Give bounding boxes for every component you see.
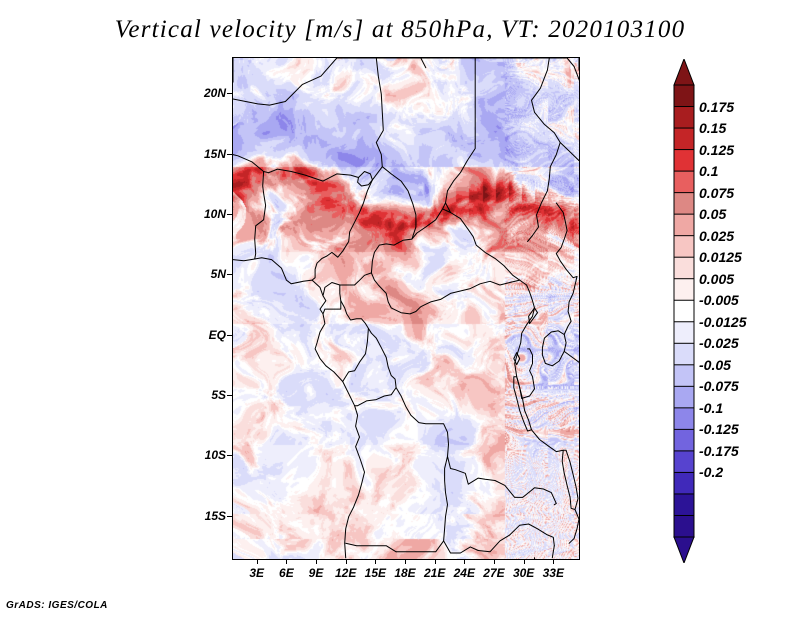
colorbar-tick-label: -0.1 xyxy=(699,400,723,416)
colorbar-tick-label: -0.125 xyxy=(699,421,739,437)
y-axis-tick-mark xyxy=(227,154,232,155)
y-axis-tick-label: EQ xyxy=(174,328,226,342)
colorbar-swatch xyxy=(674,515,694,537)
colorbar-tick-label: -0.05 xyxy=(699,357,731,373)
colorbar-tick-label: -0.0125 xyxy=(699,314,746,330)
y-axis-tick-label: 15N xyxy=(174,147,226,161)
colorbar-tick-label: 0.15 xyxy=(699,120,726,136)
colorbar-swatch xyxy=(674,429,694,451)
x-axis-tick-label: 33E xyxy=(543,566,564,580)
colorbar-tick-label: -0.175 xyxy=(699,443,739,459)
colorbar-top-arrow xyxy=(674,59,694,85)
colorbar-tick-label: 0.125 xyxy=(699,142,734,158)
x-axis-tick-mark xyxy=(346,559,347,564)
colorbar-swatch xyxy=(674,257,694,279)
colorbar-swatch xyxy=(674,193,694,215)
colorbar-swatch xyxy=(674,343,694,365)
y-axis-tick-label: 10S xyxy=(174,448,226,462)
colorbar-swatch xyxy=(674,322,694,344)
x-axis-tick-mark xyxy=(316,559,317,564)
x-axis-tick-label: 3E xyxy=(249,566,264,580)
colorbar-swatch xyxy=(674,300,694,322)
y-axis-tick-label: 5S xyxy=(174,388,226,402)
x-axis-tick-label: 6E xyxy=(279,566,294,580)
x-axis-tick-mark xyxy=(435,559,436,564)
colorbar-swatches xyxy=(673,59,695,563)
colorbar-swatch xyxy=(674,85,694,107)
colorbar-swatch xyxy=(674,451,694,473)
y-axis-tick-label: 10N xyxy=(174,207,226,221)
colorbar-swatch xyxy=(674,494,694,516)
x-axis-tick-mark xyxy=(524,559,525,564)
colorbar-swatch xyxy=(674,408,694,430)
colorbar-swatch xyxy=(674,171,694,193)
map-plot-area xyxy=(232,57,580,560)
y-axis-tick-label: 5N xyxy=(174,267,226,281)
x-axis-tick-mark xyxy=(257,559,258,564)
colorbar-tick-label: -0.2 xyxy=(699,464,723,480)
y-axis-tick-label: 20N xyxy=(174,86,226,100)
x-axis-tick-label: 27E xyxy=(483,566,504,580)
x-axis-tick-mark xyxy=(375,559,376,564)
x-axis-tick-label: 18E xyxy=(394,566,415,580)
y-axis-tick-mark xyxy=(227,93,232,94)
colorbar-swatch xyxy=(674,279,694,301)
y-axis-tick-mark xyxy=(227,274,232,275)
page-title: Vertical velocity [m/s] at 850hPa, VT: 2… xyxy=(0,16,800,44)
x-axis-tick-label: 12E xyxy=(335,566,356,580)
colorbar-tick-label: -0.075 xyxy=(699,378,739,394)
colorbar-swatch xyxy=(674,214,694,236)
colorbar-tick-label: 0.0125 xyxy=(699,249,742,265)
colorbar-tick-label: 0.175 xyxy=(699,99,734,115)
colorbar-swatch xyxy=(674,472,694,494)
colorbar-swatch xyxy=(674,150,694,172)
colorbar-swatch xyxy=(674,107,694,129)
x-axis-tick-label: 21E xyxy=(424,566,445,580)
x-axis-tick-label: 24E xyxy=(454,566,475,580)
colorbar-tick-label: -0.005 xyxy=(699,292,739,308)
y-axis-tick-label: 15S xyxy=(174,509,226,523)
colorbar-tick-label: 0.05 xyxy=(699,206,726,222)
x-axis-tick-label: 9E xyxy=(309,566,324,580)
colorbar-swatch xyxy=(674,236,694,258)
colorbar-swatch xyxy=(674,386,694,408)
colorbar-bottom-arrow xyxy=(674,537,694,563)
vertical-velocity-heatmap xyxy=(233,58,579,559)
attribution-footer: GrADS: IGES/COLA xyxy=(6,600,108,611)
x-axis-tick-label: 30E xyxy=(513,566,534,580)
x-axis-tick-mark xyxy=(405,559,406,564)
grads-plot-page: Vertical velocity [m/s] at 850hPa, VT: 2… xyxy=(0,0,800,618)
colorbar-tick-label: 0.075 xyxy=(699,185,734,201)
y-axis-tick-mark xyxy=(227,395,232,396)
y-axis-tick-mark xyxy=(227,516,232,517)
x-axis-tick-label: 15E xyxy=(365,566,386,580)
colorbar-tick-label: 0.1 xyxy=(699,163,718,179)
colorbar-tick-label: 0.025 xyxy=(699,228,734,244)
y-axis-tick-mark xyxy=(227,214,232,215)
x-axis-tick-mark xyxy=(553,559,554,564)
colorbar-tick-label: 0.005 xyxy=(699,271,734,287)
x-axis-tick-mark xyxy=(464,559,465,564)
x-axis-tick-mark xyxy=(494,559,495,564)
colorbar-swatch xyxy=(674,128,694,150)
colorbar xyxy=(673,59,695,563)
y-axis-tick-mark xyxy=(227,455,232,456)
x-axis-tick-mark xyxy=(286,559,287,564)
y-axis-tick-mark xyxy=(227,335,232,336)
colorbar-tick-label: -0.025 xyxy=(699,335,739,351)
colorbar-swatch xyxy=(674,365,694,387)
